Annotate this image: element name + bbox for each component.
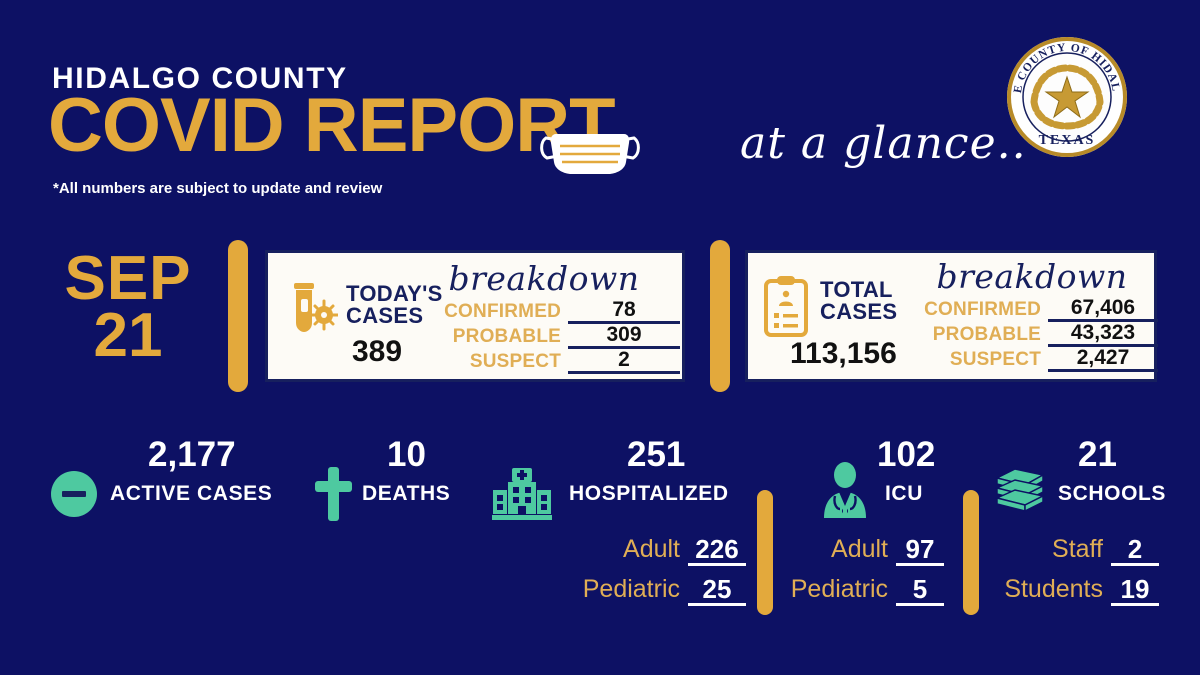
deaths-label: DEATHS xyxy=(362,482,450,506)
doctor-icon xyxy=(820,462,870,518)
active-cases-label: ACTIVE CASES xyxy=(110,482,272,506)
hospital-icon xyxy=(492,468,552,520)
schools-number: 21 xyxy=(1078,435,1117,475)
hospitalized-sub-row: Pediatric 25 xyxy=(560,575,746,606)
breakdown-key: SUSPECT xyxy=(423,351,561,374)
breakdown-value: 2 xyxy=(568,349,680,374)
icu-number: 102 xyxy=(877,435,935,475)
active-cases-number: 2,177 xyxy=(148,435,236,475)
cross-icon xyxy=(313,467,353,521)
breakdown-row: SUSPECT 2 xyxy=(408,349,680,374)
todays-cases-card: TODAY'S CASES 389 breakdown CONFIRMED 78… xyxy=(265,250,685,382)
schools-label: SCHOOLS xyxy=(1058,482,1166,506)
face-mask-icon xyxy=(538,116,642,178)
hospitalized-number: 251 xyxy=(627,435,685,475)
breakdown-row: PROBABLE 43,323 xyxy=(906,322,1158,347)
books-icon xyxy=(993,466,1047,518)
svg-text:TEXAS: TEXAS xyxy=(1039,133,1096,148)
sub-key: Adult xyxy=(560,535,680,566)
hospitalized-sub-row: Adult 226 xyxy=(560,535,746,566)
breakdown-title: breakdown xyxy=(408,259,680,298)
breakdown-key: PROBABLE xyxy=(915,324,1041,347)
deaths-number: 10 xyxy=(387,435,426,475)
total-cases-card: TOTAL CASES 113,156 breakdown CONFIRMED … xyxy=(745,250,1157,382)
at-a-glance-text: at a glance.. xyxy=(740,118,1027,169)
todays-cases-total: 389 xyxy=(352,335,402,369)
divider-bar xyxy=(228,240,248,392)
total-cases-total: 113,156 xyxy=(790,337,897,371)
date-day: 21 xyxy=(48,307,208,364)
schools-sub-row: Staff 2 xyxy=(985,535,1159,566)
breakdown-row: PROBABLE 309 xyxy=(408,324,680,349)
covid-report-infographic: HIDALGO COUNTY COVID REPORT at a glance.… xyxy=(0,0,1200,675)
sub-key: Adult xyxy=(780,535,888,566)
breakdown-value: 67,406 xyxy=(1048,297,1158,322)
divider-bar xyxy=(757,490,773,615)
icu-sub-row: Adult 97 xyxy=(780,535,944,566)
report-date: SEP 21 xyxy=(48,250,208,364)
sub-value: 19 xyxy=(1111,576,1159,606)
sub-value: 2 xyxy=(1111,536,1159,566)
breakdown-key: CONFIRMED xyxy=(915,299,1041,322)
icu-sub-row: Pediatric 5 xyxy=(780,575,944,606)
sub-key: Pediatric xyxy=(780,575,888,606)
sub-key: Pediatric xyxy=(560,575,680,606)
breakdown-key: PROBABLE xyxy=(423,326,561,349)
breakdown-row: SUSPECT 2,427 xyxy=(906,347,1158,372)
card-label-line2: CASES xyxy=(820,299,897,324)
sub-value: 25 xyxy=(688,576,746,606)
sub-value: 226 xyxy=(688,536,746,566)
county-seal-icon: THE COUNTY OF HIDALGO TEXAS xyxy=(1006,36,1128,158)
minus-circle-icon xyxy=(50,470,98,518)
schools-sub-row: Students 19 xyxy=(985,575,1159,606)
breakdown-value: 309 xyxy=(568,324,680,349)
breakdown-value: 2,427 xyxy=(1048,347,1158,372)
hospitalized-label: HOSPITALIZED xyxy=(569,482,729,506)
icu-label: ICU xyxy=(885,482,923,506)
breakdown-key: SUSPECT xyxy=(915,349,1041,372)
breakdown-row: CONFIRMED 67,406 xyxy=(906,297,1158,322)
clipboard-icon xyxy=(762,275,810,337)
divider-bar xyxy=(963,490,979,615)
sub-key: Staff xyxy=(985,535,1103,566)
test-tube-virus-icon xyxy=(282,279,338,337)
breakdown-value: 78 xyxy=(568,299,680,324)
breakdown-row: CONFIRMED 78 xyxy=(408,299,680,324)
disclaimer-note: *All numbers are subject to update and r… xyxy=(53,180,382,197)
sub-key: Students xyxy=(985,575,1103,606)
breakdown-value: 43,323 xyxy=(1048,322,1158,347)
divider-bar xyxy=(710,240,730,392)
sub-value: 5 xyxy=(896,576,944,606)
sub-value: 97 xyxy=(896,536,944,566)
date-month: SEP xyxy=(48,250,208,307)
breakdown-key: CONFIRMED xyxy=(423,301,561,324)
page-title: COVID REPORT xyxy=(48,88,615,164)
breakdown-title: breakdown xyxy=(906,257,1158,296)
